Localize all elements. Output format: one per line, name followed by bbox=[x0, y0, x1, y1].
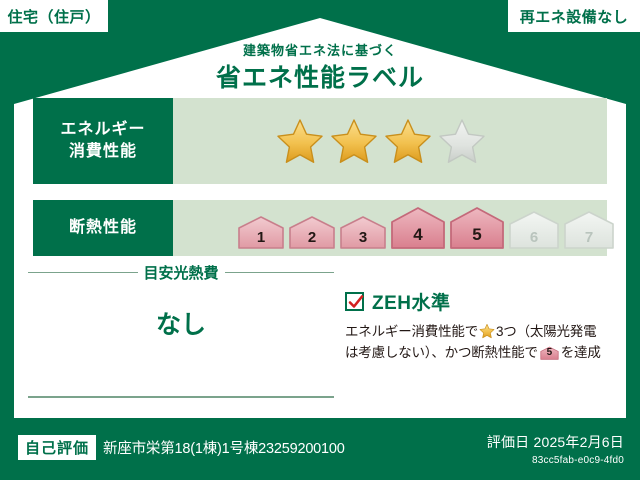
utility-cost-heading: 目安光熱費 bbox=[28, 262, 334, 282]
utility-cost-value: なし bbox=[28, 305, 334, 341]
insulation-grade-1-number: 1 bbox=[237, 229, 285, 246]
property-identifier: 新座市栄第18(1棟)1号棟23259200100 bbox=[103, 437, 345, 458]
insulation-grade-7: 7 bbox=[563, 210, 615, 250]
insulation-label-text: 断熱性能 bbox=[69, 217, 137, 239]
insulation-grade-scale: 1 2 3 bbox=[237, 206, 615, 250]
zeh-title: ZEH水準 bbox=[372, 288, 451, 315]
insulation-performance-body: 1 2 3 bbox=[173, 200, 615, 256]
insulation-badge-inline-number: 5 bbox=[540, 345, 559, 361]
insulation-grade-4-number: 4 bbox=[390, 225, 446, 245]
star-icon-inline bbox=[479, 323, 495, 339]
evaluation-date: 評価日 2025年2月6日 bbox=[487, 432, 624, 452]
insulation-grade-1: 1 bbox=[237, 214, 285, 250]
insulation-grade-4: 4 bbox=[390, 206, 446, 250]
utility-cost-heading-text: 目安光熱費 bbox=[144, 262, 219, 283]
building-type-tag: 住宅（住戸） bbox=[0, 0, 108, 32]
insulation-grade-3: 3 bbox=[339, 214, 387, 250]
insulation-performance-row: 断熱性能 1 2 bbox=[33, 200, 607, 256]
evaluation-date-block: 評価日 2025年2月6日 83cc5fab-e0c9-4fd0 bbox=[487, 432, 624, 466]
insulation-grade-2: 2 bbox=[288, 214, 336, 250]
energy-consumption-row: エネルギー 消費性能 bbox=[33, 98, 607, 184]
zeh-checkbox[interactable] bbox=[345, 292, 364, 311]
zeh-title-row: ZEH水準 bbox=[345, 288, 611, 315]
zeh-standard-block: ZEH水準 エネルギー消費性能で3つ（太陽光発電は考慮しない）、かつ断熱性能で5… bbox=[345, 288, 611, 364]
label-footer: 自己評価 新座市栄第18(1棟)1号棟23259200100 評価日 2025年… bbox=[0, 418, 640, 480]
star-icon-empty-4 bbox=[437, 116, 487, 166]
heading-rule-right bbox=[225, 272, 335, 273]
insulation-grade-6: 6 bbox=[508, 210, 560, 250]
self-evaluation-badge: 自己評価 bbox=[18, 435, 96, 460]
star-rating bbox=[275, 116, 487, 166]
page-title: 省エネ性能ラベル bbox=[0, 58, 640, 94]
energy-label-line1: エネルギー bbox=[60, 119, 145, 141]
zeh-desc-part2: は考慮しない）、かつ断熱性能で bbox=[345, 345, 538, 360]
energy-performance-label: 住宅（住戸） 再エネ設備なし 建築物省エネ法に基づく 省エネ性能ラベル エネルギ… bbox=[0, 0, 640, 480]
energy-label-line2: 消費性能 bbox=[69, 141, 137, 163]
insulation-grade-5: 5 bbox=[449, 206, 505, 250]
star-icon-filled-3 bbox=[383, 116, 433, 166]
heading-rule-left bbox=[28, 272, 138, 273]
insulation-grade-5-number: 5 bbox=[449, 225, 505, 245]
zeh-desc-part1: エネルギー消費性能で bbox=[345, 324, 478, 339]
energy-consumption-label: エネルギー 消費性能 bbox=[33, 98, 173, 184]
evaluation-id: 83cc5fab-e0c9-4fd0 bbox=[487, 455, 624, 466]
insulation-performance-label: 断熱性能 bbox=[33, 200, 173, 256]
insulation-grade-7-number: 7 bbox=[563, 229, 615, 246]
insulation-badge-inline: 5 bbox=[540, 345, 559, 361]
zeh-description: エネルギー消費性能で3つ（太陽光発電は考慮しない）、かつ断熱性能で5を達成 bbox=[345, 322, 611, 364]
insulation-grade-6-number: 6 bbox=[508, 229, 560, 246]
insulation-grade-2-number: 2 bbox=[288, 229, 336, 246]
check-icon bbox=[348, 294, 364, 310]
label-subtitle: 建築物省エネ法に基づく bbox=[0, 40, 640, 59]
energy-consumption-body bbox=[173, 98, 607, 184]
self-evaluation-row: 自己評価 新座市栄第18(1棟)1号棟23259200100 bbox=[18, 435, 345, 460]
star-icon-filled-1 bbox=[275, 116, 325, 166]
zeh-desc-part3: を達成 bbox=[561, 345, 601, 360]
star-icon-filled-2 bbox=[329, 116, 379, 166]
insulation-grade-3-number: 3 bbox=[339, 229, 387, 246]
renewable-equipment-tag: 再エネ設備なし bbox=[508, 0, 640, 32]
utility-cost-bottom-rule bbox=[28, 396, 334, 398]
zeh-desc-star-count: 3つ（太陽光発電 bbox=[496, 324, 596, 339]
